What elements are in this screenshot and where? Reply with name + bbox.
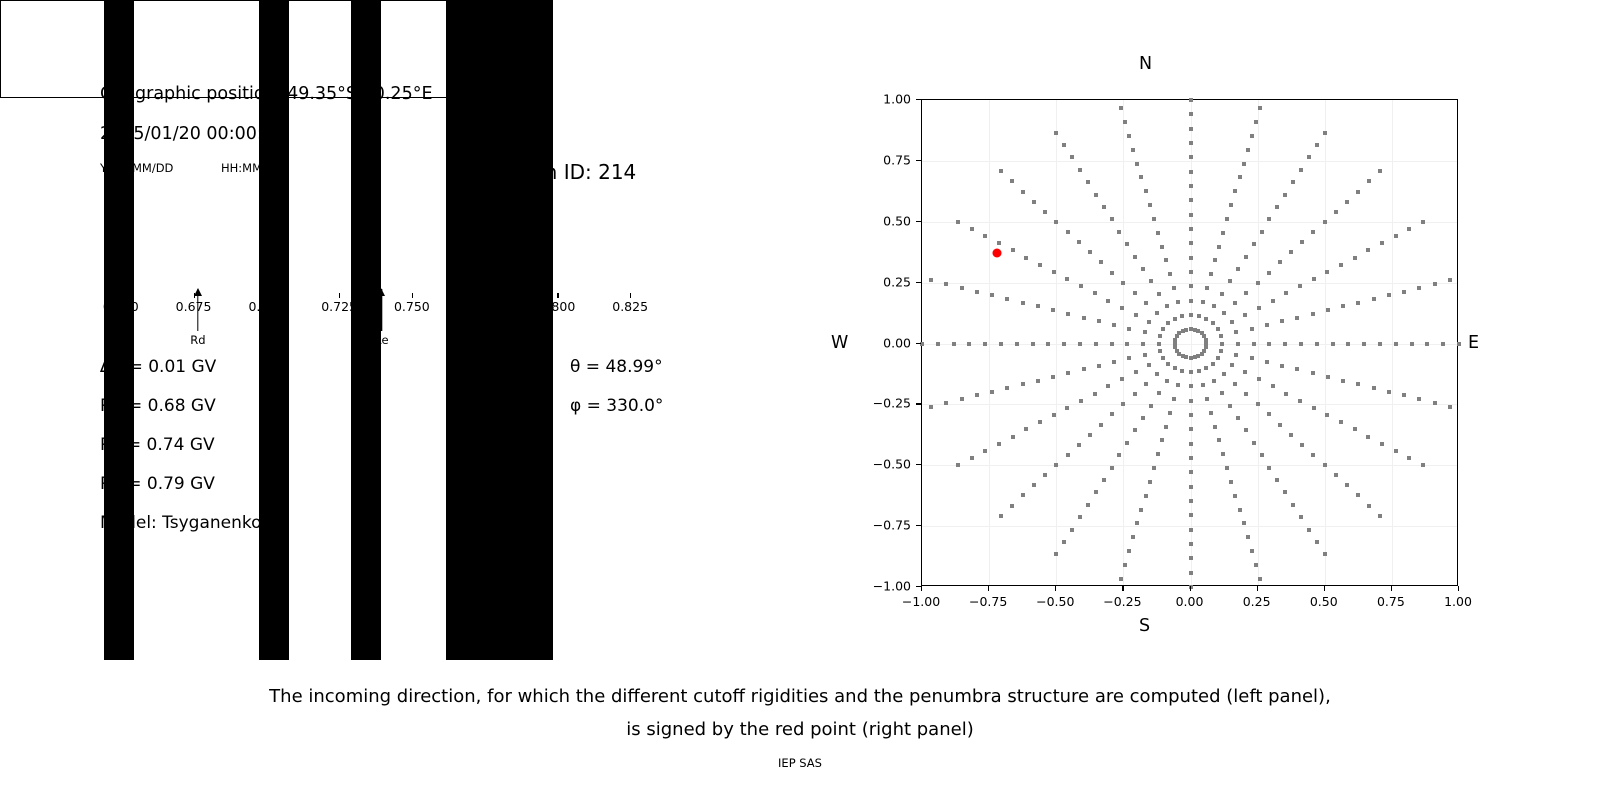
y-axis-tick-label: 1.00 [859, 92, 911, 107]
direction-point [1353, 427, 1357, 431]
direction-point [1097, 364, 1101, 368]
direction-point [1082, 316, 1086, 320]
direction-point [1175, 349, 1179, 353]
direction-point [1158, 349, 1162, 353]
direction-point [1189, 528, 1193, 532]
value-ru: Ru = 0.79 GV [100, 474, 215, 494]
direction-point [1011, 248, 1015, 252]
y-axis-tick [916, 99, 921, 100]
direction-point [1213, 258, 1217, 262]
direction-point [990, 293, 994, 297]
direction-point [1189, 170, 1193, 174]
direction-point [1119, 577, 1123, 581]
direction-point [1161, 356, 1165, 360]
direction-point [1267, 342, 1271, 346]
direction-point [1173, 366, 1177, 370]
direction-point [1112, 360, 1116, 364]
direction-point [1252, 242, 1256, 246]
value-phi: φ = 330.0° [570, 396, 663, 416]
direction-point [1054, 220, 1058, 224]
sky-map-panel: N E S W −1.00−0.75−0.50−0.250.000.250.50… [840, 40, 1540, 660]
direction-point [1267, 271, 1271, 275]
direction-point [1158, 334, 1162, 338]
compass-label-west: W [831, 333, 848, 353]
direction-point [1260, 230, 1264, 234]
direction-point [1334, 473, 1338, 477]
direction-point [1133, 428, 1137, 432]
direction-point [956, 463, 960, 467]
direction-point [1252, 342, 1256, 346]
direction-point [1220, 391, 1224, 395]
direction-point [1088, 433, 1092, 437]
direction-point [1243, 370, 1247, 374]
direction-point [1211, 321, 1215, 325]
direction-point [1236, 416, 1240, 420]
direction-point [944, 282, 948, 286]
direction-point [1284, 291, 1288, 295]
direction-point [1117, 230, 1121, 234]
direction-point [1394, 234, 1398, 238]
direction-point [1254, 563, 1258, 567]
direction-point [1110, 271, 1114, 275]
direction-point [1094, 490, 1098, 494]
direction-point [1125, 441, 1129, 445]
direction-point [1334, 210, 1338, 214]
direction-point [1244, 255, 1248, 259]
direction-point [1193, 355, 1197, 359]
direction-point [1157, 391, 1161, 395]
direction-point [1125, 342, 1129, 346]
direction-point [1394, 449, 1398, 453]
selected-direction-point[interactable] [993, 249, 1002, 258]
direction-point [1250, 327, 1254, 331]
direction-point [1275, 478, 1279, 482]
arrow-up-icon [521, 288, 529, 296]
gridline-vertical [1392, 100, 1393, 585]
direction-point [1189, 370, 1193, 374]
x-axis-tick [988, 586, 989, 591]
direction-point [1271, 299, 1275, 303]
direction-point [997, 241, 1001, 245]
compass-label-east: E [1468, 333, 1479, 353]
direction-point [1205, 286, 1209, 290]
direction-point [1441, 342, 1445, 346]
y-axis-tick [916, 525, 921, 526]
direction-point [1229, 480, 1233, 484]
direction-point [1173, 338, 1177, 342]
direction-point [1284, 392, 1288, 396]
direction-point [1088, 250, 1092, 254]
direction-point [1378, 514, 1382, 518]
forbidden-band [104, 0, 134, 98]
direction-point [1125, 242, 1129, 246]
axis-tick-label: 0.825 [612, 299, 648, 314]
direction-point [1062, 540, 1066, 544]
penumbra-bar [0, 0, 553, 98]
direction-point [1341, 379, 1345, 383]
direction-point [1166, 362, 1170, 366]
direction-point [1311, 453, 1315, 457]
axis-tick-label: 0.775 [467, 299, 503, 314]
gridline-vertical [1056, 100, 1057, 585]
x-axis-tick [1190, 586, 1191, 591]
direction-point [1189, 571, 1193, 575]
direction-point [1139, 175, 1143, 179]
direction-point [1280, 364, 1284, 368]
direction-point [1189, 213, 1193, 217]
direction-point [1325, 413, 1329, 417]
direction-point [1205, 397, 1209, 401]
penumbra-axis: 0.6500.6750.7000.7250.7500.7750.8000.825… [99, 293, 652, 307]
direction-point [1295, 367, 1299, 371]
direction-point [1407, 456, 1411, 460]
sky-plot-area [921, 99, 1458, 586]
direction-point [1189, 456, 1193, 460]
direction-point [1152, 466, 1156, 470]
direction-point [1102, 205, 1106, 209]
direction-point [1143, 353, 1147, 357]
direction-point [1164, 425, 1168, 429]
direction-point [1024, 256, 1028, 260]
direction-point [1143, 330, 1147, 334]
direction-point [1201, 383, 1205, 387]
direction-point [1189, 98, 1193, 102]
direction-point [1166, 321, 1170, 325]
direction-point [1325, 270, 1329, 274]
direction-point [944, 401, 948, 405]
direction-point [1157, 292, 1161, 296]
direction-point [1300, 240, 1304, 244]
direction-point [1078, 168, 1082, 172]
direction-point [1267, 466, 1271, 470]
direction-point [929, 278, 933, 282]
direction-point [1133, 255, 1137, 259]
direction-point [1120, 377, 1124, 381]
direction-point [1219, 334, 1223, 338]
direction-point [1448, 405, 1452, 409]
direction-point [1233, 494, 1237, 498]
direction-point [1220, 292, 1224, 296]
direction-point [1155, 372, 1159, 376]
direction-point [1189, 499, 1193, 503]
direction-point [990, 390, 994, 394]
value-delta-r: ∆R = 0.01 GV [100, 357, 216, 377]
direction-point [1209, 411, 1213, 415]
y-axis-tick [916, 464, 921, 465]
direction-point [1315, 342, 1319, 346]
direction-point [1448, 278, 1452, 282]
direction-point [1299, 168, 1303, 172]
y-axis-tick [916, 403, 921, 404]
direction-point [1250, 134, 1254, 138]
direction-point [1244, 428, 1248, 432]
direction-point [1291, 180, 1295, 184]
direction-point [1271, 384, 1275, 388]
axis-tick [485, 293, 486, 298]
direction-point [956, 220, 960, 224]
x-axis-tick-label: 1.00 [1444, 594, 1472, 609]
direction-point [1299, 515, 1303, 519]
direction-point [1078, 515, 1082, 519]
direction-point [999, 169, 1003, 173]
direction-point [1213, 425, 1217, 429]
direction-point [960, 286, 964, 290]
direction-point [1250, 356, 1254, 360]
direction-point [1417, 397, 1421, 401]
direction-point [1144, 382, 1148, 386]
arrow-up-icon [377, 288, 385, 296]
direction-point [1189, 270, 1193, 274]
direction-point [1180, 369, 1184, 373]
direction-point [1184, 355, 1188, 359]
direction-point [1054, 552, 1058, 556]
axis-tick-label: 0.750 [394, 299, 430, 314]
direction-point [1298, 284, 1302, 288]
direction-point [1221, 231, 1225, 235]
direction-point [1362, 342, 1366, 346]
direction-point [1189, 284, 1193, 288]
axis-tick-label: 0.800 [540, 299, 576, 314]
axis-tick-label: 0.725 [321, 299, 357, 314]
arrow-label: Ru [518, 333, 533, 347]
direction-point [1110, 466, 1114, 470]
direction-point [1234, 353, 1238, 357]
direction-point [1127, 549, 1131, 553]
direction-point [1356, 301, 1360, 305]
direction-point [1372, 386, 1376, 390]
direction-point [1065, 277, 1069, 281]
direction-point [1155, 311, 1159, 315]
direction-point [1147, 363, 1151, 367]
direction-point [1242, 162, 1246, 166]
gridline-horizontal [922, 161, 1457, 162]
direction-point [1097, 319, 1101, 323]
direction-point [1093, 392, 1097, 396]
direction-point [1366, 435, 1370, 439]
direction-point [1176, 383, 1180, 387]
direction-point [1457, 342, 1461, 346]
caption-line-1: The incoming direction, for which the di… [0, 686, 1600, 707]
direction-point [1024, 427, 1028, 431]
direction-point [1189, 198, 1193, 202]
direction-point [1209, 272, 1213, 276]
direction-point [1189, 155, 1193, 159]
direction-point [1265, 360, 1269, 364]
direction-point [1189, 299, 1193, 303]
direction-point [1173, 342, 1177, 346]
direction-point [1005, 386, 1009, 390]
direction-point [1246, 535, 1250, 539]
direction-point [1156, 231, 1160, 235]
direction-point [1112, 323, 1116, 327]
axis-tick [121, 293, 122, 298]
direction-point [1283, 490, 1287, 494]
direction-point [1339, 420, 1343, 424]
direction-point [1127, 356, 1131, 360]
direction-point [1141, 416, 1145, 420]
direction-point [1189, 141, 1193, 145]
arrow-up-icon [194, 288, 202, 296]
axis-tick [557, 293, 558, 298]
direction-point [1204, 366, 1208, 370]
direction-point [1144, 301, 1148, 305]
direction-point [1070, 528, 1074, 532]
direction-point [1315, 540, 1319, 544]
direction-point [999, 514, 1003, 518]
direction-point [1189, 384, 1193, 388]
direction-point [983, 234, 987, 238]
direction-point [1189, 542, 1193, 546]
direction-point [929, 405, 933, 409]
direction-point [1106, 384, 1110, 388]
direction-point [1331, 342, 1335, 346]
x-axis-tick-label: −1.00 [902, 594, 940, 609]
direction-point [1165, 304, 1169, 308]
direction-point [1260, 453, 1264, 457]
direction-point [1065, 406, 1069, 410]
direction-point [1148, 480, 1152, 484]
value-re: Re = 0.74 GV [100, 435, 215, 455]
direction-point [1189, 413, 1193, 417]
direction-point [1258, 577, 1262, 581]
gridline-horizontal [922, 465, 1457, 466]
y-axis-tick [916, 221, 921, 222]
direction-point [1366, 248, 1370, 252]
direction-point [1220, 342, 1224, 346]
direction-point [1176, 300, 1180, 304]
direction-point [1127, 134, 1131, 138]
direction-point [1070, 155, 1074, 159]
direction-point [970, 227, 974, 231]
direction-point [1021, 301, 1025, 305]
direction-point [1121, 281, 1125, 285]
direction-point [1148, 203, 1152, 207]
direction-point [1233, 189, 1237, 193]
direction-point [1032, 200, 1036, 204]
direction-point [1323, 463, 1327, 467]
direction-point [1110, 342, 1114, 346]
direction-point [1051, 308, 1055, 312]
direction-point [1289, 433, 1293, 437]
direction-point [1212, 379, 1216, 383]
x-axis-tick [1055, 586, 1056, 591]
direction-point [1052, 413, 1056, 417]
direction-point [1005, 297, 1009, 301]
y-axis-tick-label: 0.75 [859, 152, 911, 167]
direction-point [1036, 379, 1040, 383]
direction-point [1189, 356, 1193, 360]
direction-point [1099, 423, 1103, 427]
direction-point [1267, 412, 1271, 416]
axis-tick-label: 0.675 [176, 299, 212, 314]
direction-point [1394, 342, 1398, 346]
direction-point [1021, 382, 1025, 386]
direction-point [1189, 442, 1193, 446]
direction-point [1417, 286, 1421, 290]
gridline-horizontal [922, 222, 1457, 223]
direction-point [1066, 312, 1070, 316]
direction-point [1038, 263, 1042, 267]
forbidden-band [259, 0, 289, 98]
direction-point [1062, 143, 1066, 147]
direction-point [1323, 220, 1327, 224]
direction-point [1323, 131, 1327, 135]
gridline-vertical [989, 100, 990, 585]
direction-point [1102, 478, 1106, 482]
direction-point [1077, 240, 1081, 244]
direction-point [1372, 297, 1376, 301]
direction-point [1172, 397, 1176, 401]
direction-point [1157, 342, 1161, 346]
direction-point [1353, 256, 1357, 260]
direction-point [1015, 342, 1019, 346]
value-rd: Rd = 0.68 GV [100, 396, 216, 416]
direction-point [1189, 313, 1193, 317]
direction-point [1236, 267, 1240, 271]
direction-point [1189, 112, 1193, 116]
direction-point [1307, 155, 1311, 159]
direction-point [1189, 399, 1193, 403]
direction-point [1387, 293, 1391, 297]
direction-point [1225, 466, 1229, 470]
direction-point [1141, 342, 1145, 346]
direction-point [1165, 379, 1169, 383]
direction-point [1139, 508, 1143, 512]
direction-point [960, 397, 964, 401]
direction-point [970, 456, 974, 460]
direction-point [1172, 286, 1176, 290]
direction-point [1189, 485, 1193, 489]
direction-point [1267, 217, 1271, 221]
direction-point [1283, 193, 1287, 197]
direction-point [1077, 443, 1081, 447]
direction-point [1184, 328, 1188, 332]
direction-point [1221, 452, 1225, 456]
direction-point [1066, 453, 1070, 457]
direction-point [1046, 342, 1050, 346]
y-axis-tick-label: −1.00 [859, 579, 911, 594]
direction-point [1217, 438, 1221, 442]
direction-point [1244, 291, 1248, 295]
direction-point [1356, 493, 1360, 497]
y-axis-tick-label: −0.50 [859, 457, 911, 472]
direction-point [1168, 411, 1172, 415]
direction-point [1168, 272, 1172, 276]
direction-point [1141, 267, 1145, 271]
x-axis-tick-label: 0.00 [1176, 594, 1204, 609]
direction-point [1236, 342, 1240, 346]
arrow-label: Rd [190, 333, 205, 347]
penumbra-panel: Geographic position: 49.35°S 70.25°E 201… [0, 0, 760, 660]
direction-point [1222, 372, 1226, 376]
direction-point [1212, 304, 1216, 308]
direction-point [1123, 120, 1127, 124]
x-axis-tick [1458, 586, 1459, 591]
axis-tick [339, 293, 340, 298]
direction-point [1066, 371, 1070, 375]
direction-point [1196, 354, 1200, 358]
direction-point [999, 342, 1003, 346]
direction-point [1036, 304, 1040, 308]
direction-point [1315, 143, 1319, 147]
direction-point [1189, 227, 1193, 231]
axis-tick-label: 0.700 [248, 299, 284, 314]
direction-point [1291, 503, 1295, 507]
direction-point [1307, 528, 1311, 532]
direction-point [1144, 189, 1148, 193]
direction-point [1229, 203, 1233, 207]
direction-point [1257, 306, 1261, 310]
